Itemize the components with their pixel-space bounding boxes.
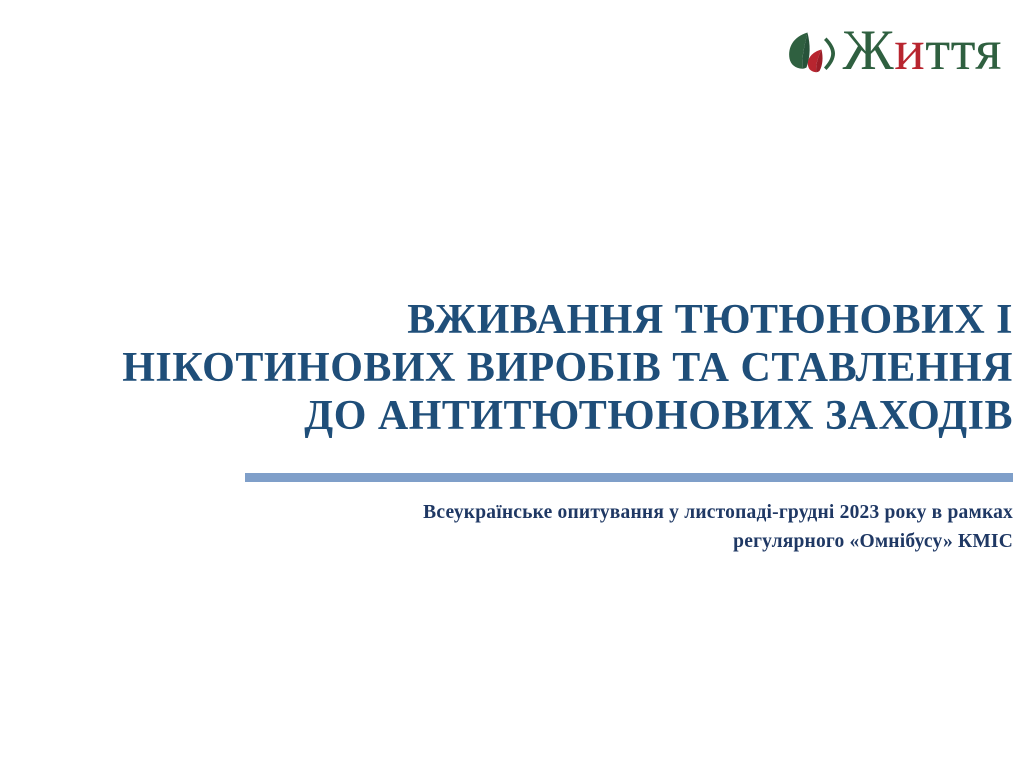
page-subtitle: Всеукраїнське опитування у листопаді-гру… [40,498,1013,556]
title-divider [245,473,1013,482]
logo-word-part-red: и [894,19,925,82]
logo-word-part-2: ття [925,19,1002,82]
logo-word-part-1: Ж [843,19,895,82]
title-line-2: НІКОТИНОВИХ ВИРОБІВ ТА СТАВЛЕННЯ [40,344,1013,392]
title-line-3: ДО АНТИТЮТЮНОВИХ ЗАХОДІВ [40,392,1013,440]
subtitle-line-1: Всеукраїнське опитування у листопаді-гру… [40,498,1013,527]
brand-logo: Життя [781,20,1002,82]
divider-bar [245,473,1013,482]
slide-canvas: { "slide": { "background_color": "#fffff… [0,0,1024,768]
subtitle-line-2: регулярного «Омнібусу» КМІС [40,527,1013,556]
logo-wordmark: Життя [843,22,1002,79]
title-line-1: ВЖИВАННЯ ТЮТЮНОВИХ І [40,296,1013,344]
page-title: ВЖИВАННЯ ТЮТЮНОВИХ І НІКОТИНОВИХ ВИРОБІВ… [40,296,1013,440]
leaf-logo-icon [781,23,837,79]
